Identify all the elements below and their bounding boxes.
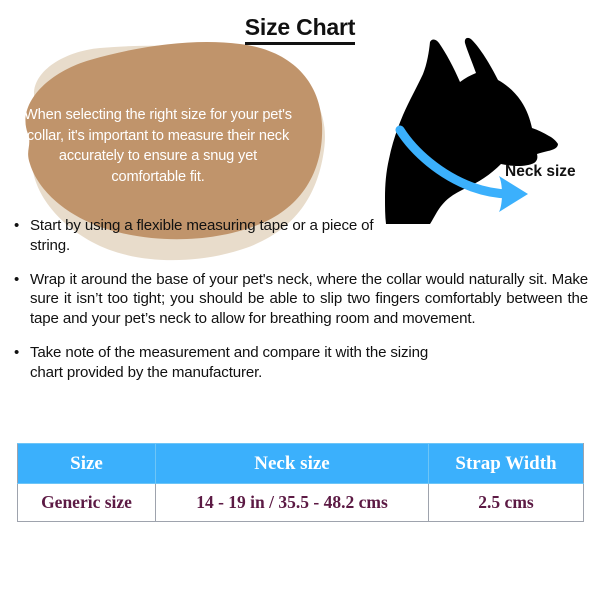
list-item-text: Take note of the measurement and compare… — [30, 343, 450, 383]
list-item-text: Start by using a flexible measuring tape… — [30, 216, 398, 256]
size-chart-table: Size Neck size Strap Width Generic size … — [17, 443, 584, 522]
column-header-neck-size: Neck size — [156, 444, 429, 484]
callout-text: When selecting the right size for your p… — [24, 105, 292, 188]
column-header-strap-width: Strap Width — [429, 444, 584, 484]
bullet-marker-icon: • — [14, 216, 30, 236]
neck-size-label: Neck size — [505, 163, 576, 181]
list-item: • Start by using a flexible measuring ta… — [14, 216, 590, 256]
column-header-size: Size — [18, 444, 156, 484]
cell-strap-width: 2.5 cms — [429, 484, 584, 522]
collar-arrowhead — [499, 176, 528, 212]
bullet-marker-icon: • — [14, 270, 30, 290]
page-title-text: Size Chart — [245, 14, 355, 45]
list-item-text: Wrap it around the base of your pet's ne… — [30, 270, 590, 329]
dog-illustration — [372, 30, 600, 225]
table-row: Generic size 14 - 19 in / 35.5 - 48.2 cm… — [18, 484, 584, 522]
page-title: Size Chart — [0, 14, 600, 41]
table-header-row: Size Neck size Strap Width — [18, 444, 584, 484]
list-item: • Take note of the measurement and compa… — [14, 343, 590, 383]
bullet-marker-icon: • — [14, 343, 30, 363]
dog-head-silhouette — [385, 38, 558, 224]
instructions-list: • Start by using a flexible measuring ta… — [14, 216, 590, 382]
cell-neck-size: 14 - 19 in / 35.5 - 48.2 cms — [156, 484, 429, 522]
list-item: • Wrap it around the base of your pet's … — [14, 270, 590, 329]
cell-size: Generic size — [18, 484, 156, 522]
